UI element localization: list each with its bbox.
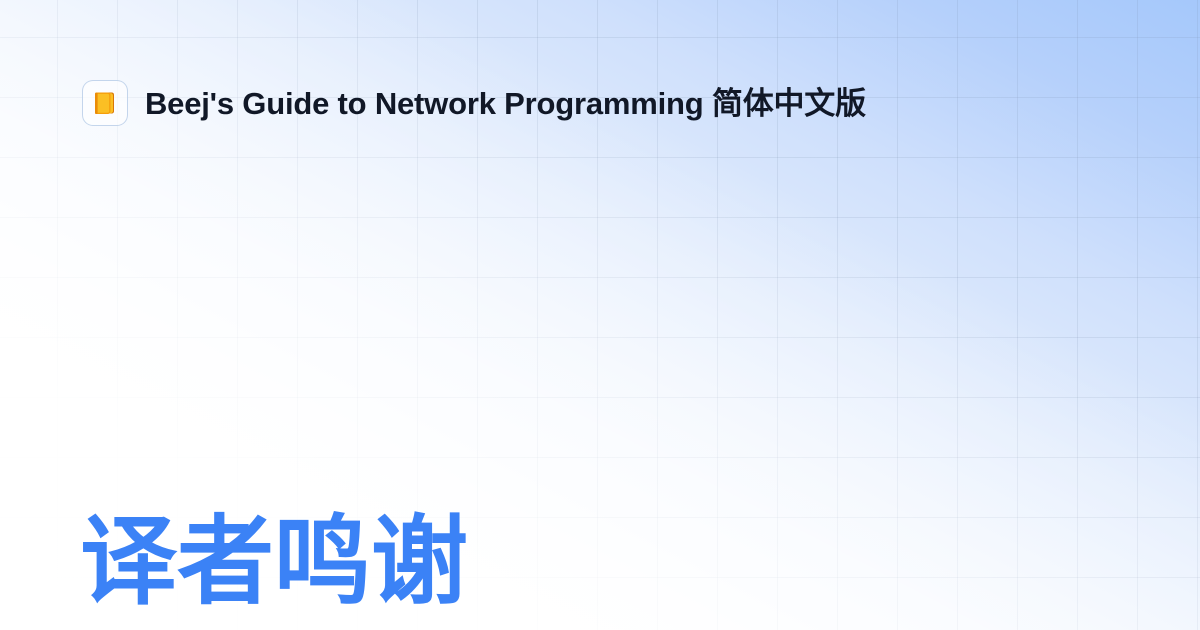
- document-header: Beej's Guide to Network Programming 简体中文…: [82, 80, 866, 126]
- document-title: Beej's Guide to Network Programming 简体中文…: [145, 88, 866, 119]
- page-title: 译者鸣谢: [80, 508, 468, 617]
- orange-book-icon: [82, 80, 128, 126]
- slide-canvas: Beej's Guide to Network Programming 简体中文…: [0, 0, 1200, 630]
